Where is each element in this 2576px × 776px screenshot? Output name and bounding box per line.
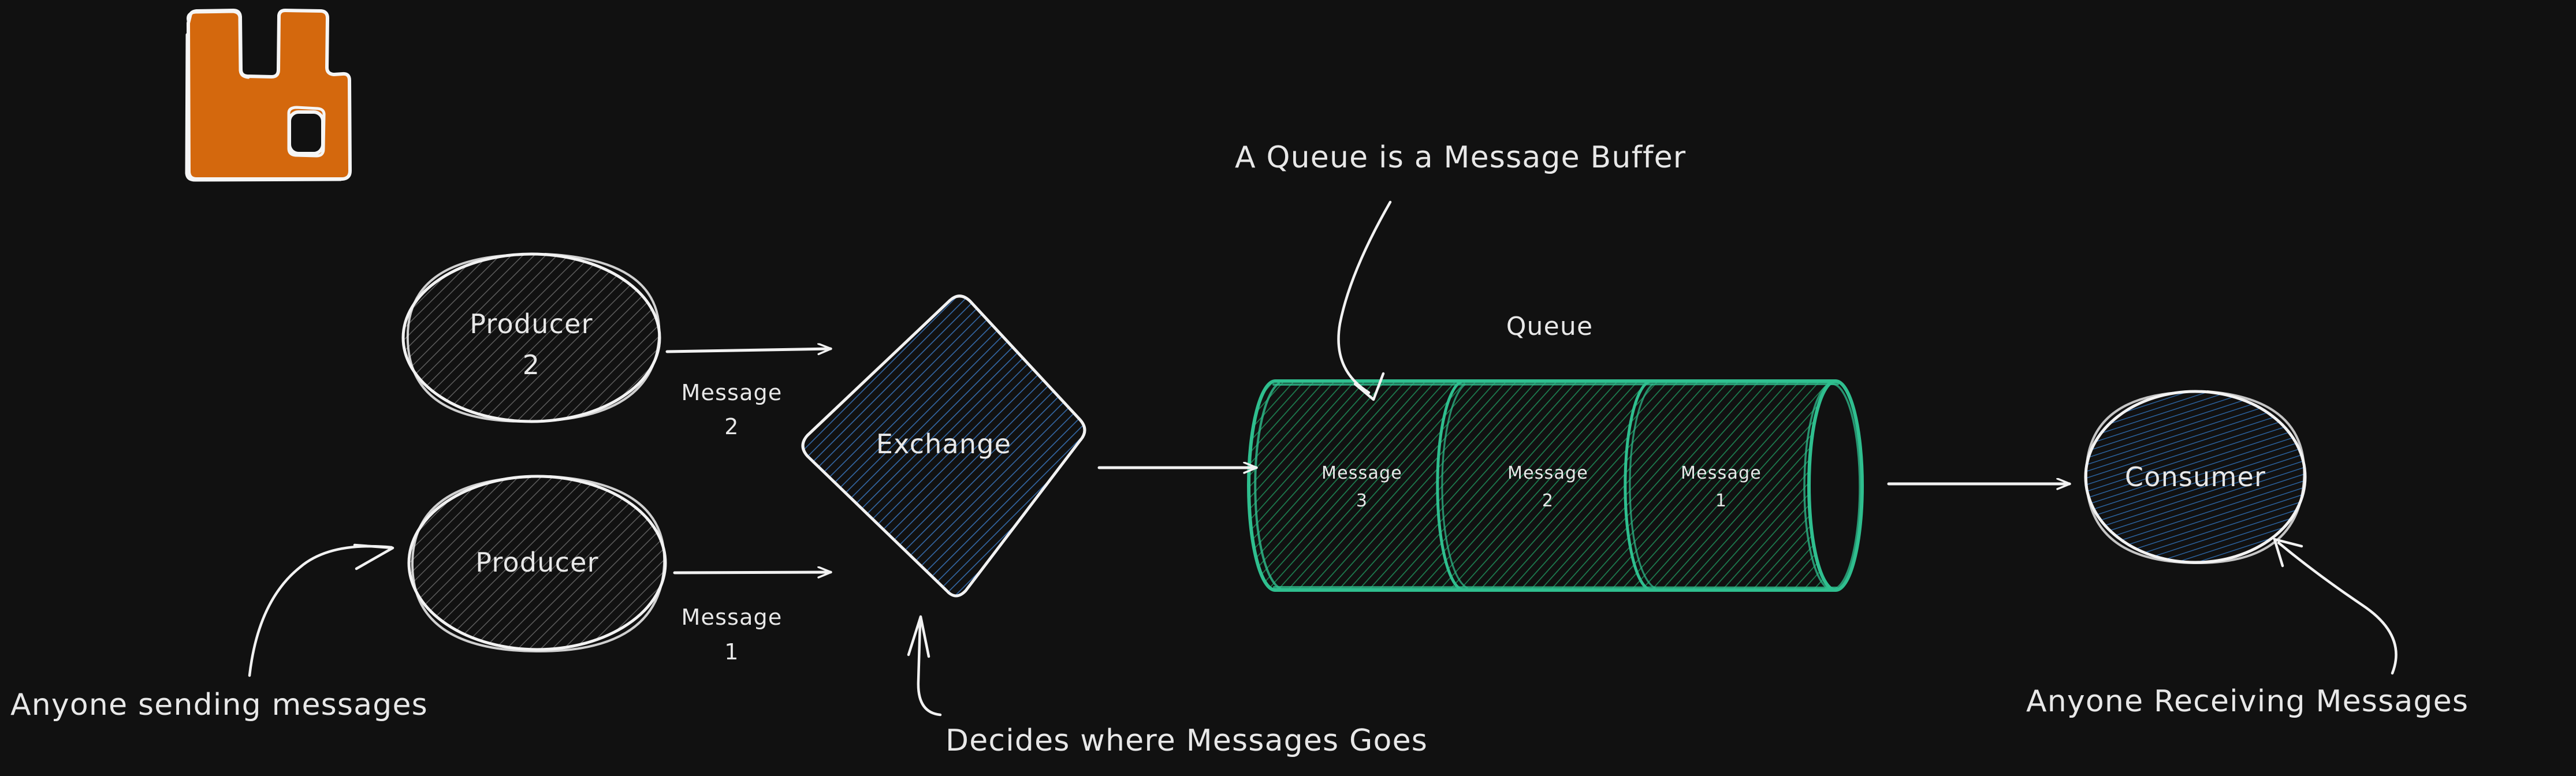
node-producer-2[interactable]: Producer 2: [403, 254, 660, 421]
queue-message-index: 2: [1542, 491, 1554, 511]
edge-label-message-2-line2: 2: [724, 414, 739, 439]
queue-message-label: Message: [1321, 463, 1402, 483]
annotation-anyone-receiving-text: Anyone Receiving Messages: [2026, 684, 2469, 719]
queue-message-label: Message: [1507, 463, 1588, 483]
annotation-anyone-sending: Anyone sending messages: [10, 545, 428, 722]
queue-message-index: 3: [1356, 491, 1368, 511]
node-consumer[interactable]: Consumer: [2086, 391, 2305, 563]
rabbitmq-architecture-diagram: Producer 2 Producer Exchange: [0, 0, 2576, 776]
edge-producer1-to-exchange: Message 1: [675, 572, 831, 665]
node-label-exchange: Exchange: [876, 428, 1011, 460]
annotation-decides-where-text: Decides where Messages Goes: [945, 723, 1428, 758]
queue-caption: Queue: [1506, 312, 1594, 341]
node-label-producer-1: Producer: [475, 547, 598, 578]
queue-message-label: Message: [1681, 463, 1762, 483]
edge-producer2-to-exchange: Message 2: [667, 349, 831, 439]
edge-label-message-1-line2: 1: [724, 639, 739, 665]
annotation-anyone-sending-text: Anyone sending messages: [10, 688, 428, 722]
edge-label-message-1-line1: Message: [682, 605, 783, 630]
node-producer-1[interactable]: Producer: [409, 476, 665, 651]
annotation-decides-where: Decides where Messages Goes: [909, 617, 1428, 758]
rabbitmq-logo-icon: [187, 10, 350, 180]
edge-label-message-2-line1: Message: [682, 380, 783, 405]
node-label-consumer: Consumer: [2125, 461, 2266, 493]
annotation-anyone-receiving: Anyone Receiving Messages: [2026, 539, 2469, 719]
queue-message-index: 1: [1715, 491, 1727, 511]
annotation-queue-buffer-text: A Queue is a Message Buffer: [1235, 140, 1686, 175]
diagram-canvas: Producer 2 Producer Exchange: [0, 0, 2576, 776]
node-label-producer-2: Producer: [470, 308, 593, 339]
node-queue[interactable]: Message 3 Message 2 Message 1: [1249, 381, 1862, 590]
node-exchange[interactable]: Exchange: [803, 296, 1085, 596]
annotation-queue-buffer: A Queue is a Message Buffer: [1235, 140, 1686, 400]
node-label-producer-2-index: 2: [523, 349, 540, 380]
